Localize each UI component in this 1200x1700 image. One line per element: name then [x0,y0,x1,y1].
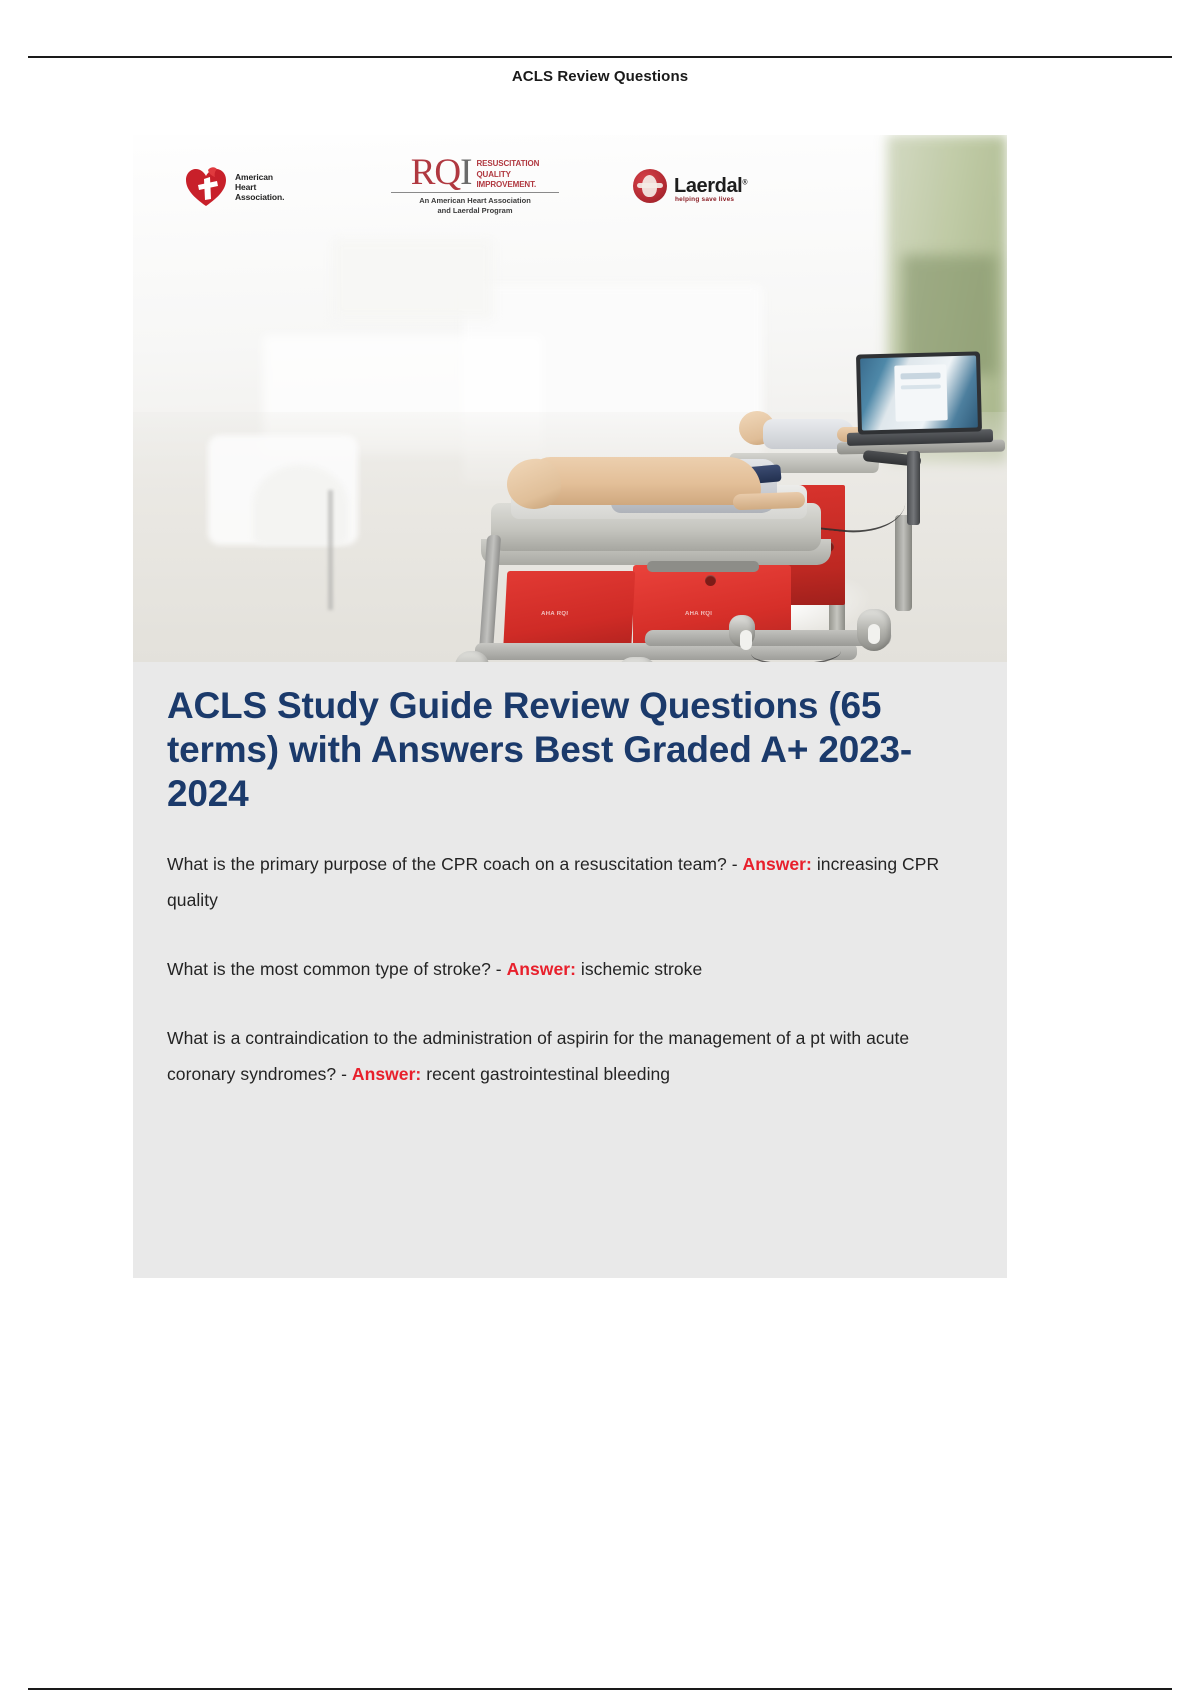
document-text-body: ACLS Study Guide Review Questions (65 te… [133,662,1007,1092]
rqi-tagline-1: An American Heart Association [385,196,565,206]
running-header: ACLS Review Questions [0,68,1200,85]
caster-wheel-rear-center [729,615,755,647]
background-pole [328,490,333,610]
answer-label: Answer: [507,959,576,979]
qa-answer: ischemic stroke [581,959,702,979]
laerdal-word-text: Laerdal [674,175,742,197]
laerdal-emblem-icon [633,169,667,203]
answer-label: Answer: [352,1064,421,1084]
floor-cable [751,637,841,662]
qa-item: What is a contraindication to the admini… [167,1020,973,1092]
qa-item: What is the most common type of stroke? … [167,951,973,987]
aha-line-1: American [235,172,284,182]
page-title: ACLS Study Guide Review Questions (65 te… [167,684,973,816]
qa-separator: - [491,959,507,979]
rqi-subtitle: RESUSCITATION QUALITY IMPROVEMENT. [476,159,539,191]
aha-heart-torch-icon [185,167,228,207]
page-title-line-1: ACLS Study Guide Review Questions (65 [167,685,881,726]
monitor-arm-vertical [907,451,920,525]
rqi-tagline-2: and Laerdal Program [385,206,565,216]
adult-manikin-arm [733,492,806,511]
laptop-video-content [860,355,978,430]
rqi-logo: RQI RESUSCITATION QUALITY IMPROVEMENT. A… [385,155,565,216]
background-equipment-secondary [253,465,348,545]
rqi-lettermark: RQI [411,155,472,190]
american-heart-association-logo: American Heart Association. [185,167,284,207]
caster-wheel-rear-right [857,609,891,651]
footer-rule [28,1688,1172,1690]
cover-image: American Heart Association. RQI RESUSCIT… [133,135,1007,662]
laerdal-tagline: helping save lives [675,196,734,203]
rqi-sub-3: IMPROVEMENT. [476,180,539,191]
qa-item: What is the primary purpose of the CPR c… [167,846,973,918]
cart-front-latch [705,575,716,586]
rqi-sub-2: QUALITY [476,170,539,181]
aha-wordmark: American Heart Association. [235,172,284,202]
rqi-simulation-cart: AHA RQI AHA RQI [433,375,993,662]
qa-separator: - [336,1064,352,1084]
laerdal-wordmark: Laerdal® helping save lives [674,175,747,198]
answer-label: Answer: [743,854,812,874]
aha-line-3: Association. [235,192,284,202]
cart-monitor-post [895,515,912,611]
rqi-letter-i: I [460,152,471,193]
aha-line-2: Heart [235,182,284,192]
background-cabinet [333,239,493,319]
rqi-sub-1: RESUSCITATION [476,159,539,170]
qa-separator: - [727,854,743,874]
qa-answer: recent gastrointestinal bleeding [426,1064,670,1084]
laptop-screen [856,351,982,434]
page-title-line-2: terms) with Answers Best Graded A+ [167,729,808,770]
qa-question: What is the most common type of stroke? [167,959,491,979]
document-content-card: American Heart Association. RQI RESUSCIT… [133,135,1007,1278]
rqi-tagline: An American Heart Association and Laerda… [385,196,565,216]
laerdal-logo: Laerdal® helping save lives [633,169,747,203]
laerdal-registered-mark: ® [742,179,747,186]
cart-front-branding: AHA RQI [685,611,712,617]
qa-question: What is the primary purpose of the CPR c… [167,854,727,874]
rqi-letters-rq: RQ [411,152,460,193]
cart-bed-handle [647,561,759,572]
cart-side-branding: AHA RQI [541,611,569,617]
logo-row: American Heart Association. RQI RESUSCIT… [133,153,1007,243]
header-rule [28,56,1172,58]
adult-manikin-torso [529,457,761,505]
